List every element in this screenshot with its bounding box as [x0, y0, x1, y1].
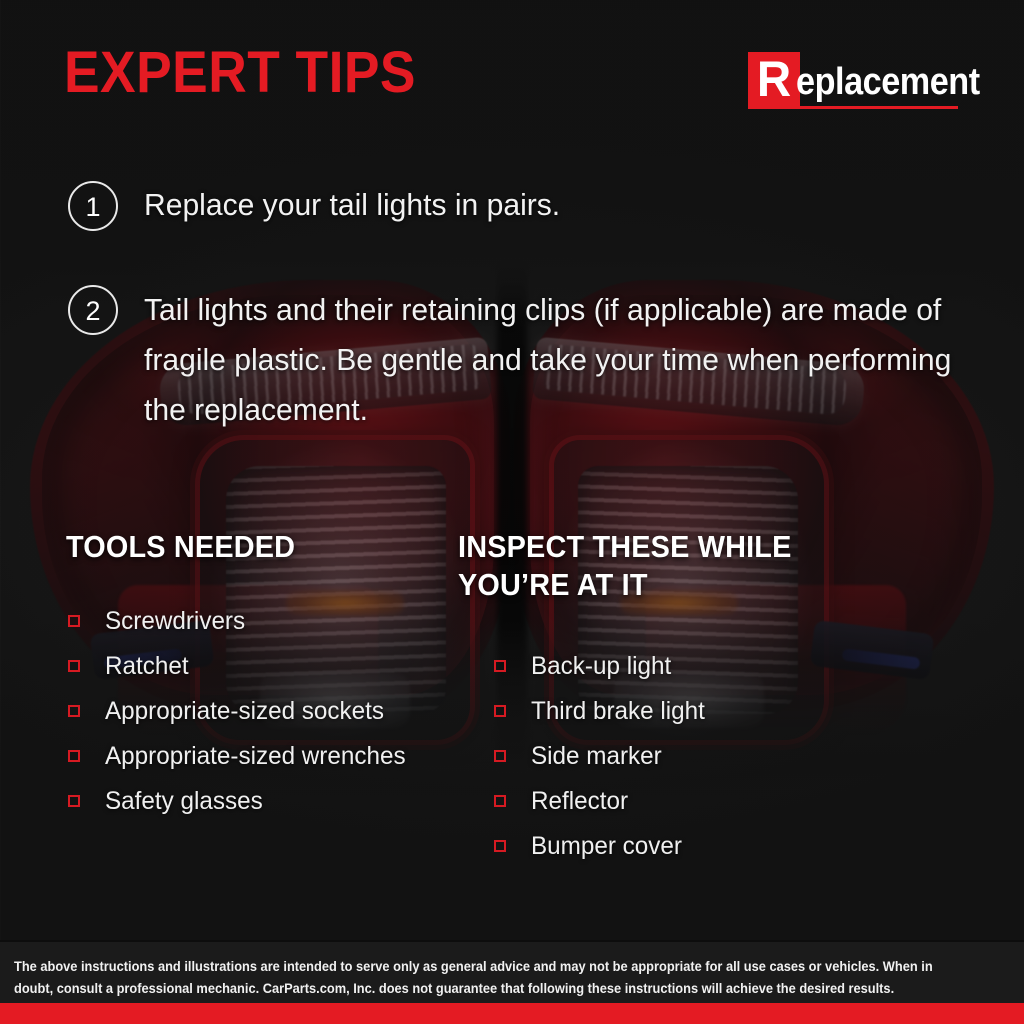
checkbox-icon[interactable]	[68, 615, 80, 627]
list-item-label: Appropriate-sized sockets	[105, 696, 384, 726]
list-item-label: Side marker	[531, 741, 662, 771]
page-title: EXPERT TIPS	[64, 44, 416, 102]
tip-item-1: 1 Replace your tail lights in pairs.	[68, 181, 573, 231]
list-item-label: Safety glasses	[105, 786, 263, 816]
footer-bar: The above instructions and illustrations…	[0, 942, 1024, 1004]
checkbox-icon[interactable]	[68, 660, 80, 672]
list-item[interactable]: Bumper cover	[494, 823, 710, 868]
logo-underline	[748, 106, 958, 109]
list-item[interactable]: Side marker	[494, 733, 710, 778]
list-item-label: Screwdrivers	[105, 606, 245, 636]
inspect-section-heading: INSPECT THESE WHILE YOU’RE AT IT	[458, 528, 830, 604]
list-item[interactable]: Ratchet	[68, 643, 415, 688]
tip-number-badge: 1	[68, 181, 118, 231]
list-item-label: Reflector	[531, 786, 628, 816]
logo-letter-r: R	[749, 52, 798, 107]
checkbox-icon[interactable]	[494, 705, 506, 717]
checkbox-icon[interactable]	[494, 840, 506, 852]
tip-text: Replace your tail lights in pairs.	[144, 181, 560, 229]
tools-checklist: Screwdrivers Ratchet Appropriate-sized s…	[68, 598, 415, 823]
list-item[interactable]: Appropriate-sized sockets	[68, 688, 415, 733]
list-item-label: Third brake light	[531, 696, 705, 726]
inspect-checklist: Back-up light Third brake light Side mar…	[494, 643, 710, 868]
list-item[interactable]: Screwdrivers	[68, 598, 415, 643]
checkbox-icon[interactable]	[68, 705, 80, 717]
tip-item-2: 2 Tail lights and their retaining clips …	[68, 285, 1024, 435]
list-item-label: Ratchet	[105, 651, 189, 681]
tip-text: Tail lights and their retaining clips (i…	[144, 285, 998, 435]
logo-wordmark: eplacement	[796, 60, 980, 104]
list-item[interactable]: Appropriate-sized wrenches	[68, 733, 415, 778]
expert-tips-infographic: EXPERT TIPS R eplacement 1 Replace your …	[0, 0, 1024, 1024]
list-item-label: Back-up light	[531, 651, 671, 681]
tools-section-heading: TOOLS NEEDED	[66, 528, 295, 566]
bottom-red-bar	[0, 1003, 1024, 1024]
list-item-label: Appropriate-sized wrenches	[105, 741, 406, 771]
replacement-logo: R eplacement	[748, 48, 960, 112]
checkbox-icon[interactable]	[494, 750, 506, 762]
list-item[interactable]: Third brake light	[494, 688, 710, 733]
disclaimer-text: The above instructions and illustrations…	[14, 956, 960, 1000]
checkbox-icon[interactable]	[68, 750, 80, 762]
list-item[interactable]: Safety glasses	[68, 778, 415, 823]
list-item[interactable]: Back-up light	[494, 643, 710, 688]
checkbox-icon[interactable]	[68, 795, 80, 807]
checkbox-icon[interactable]	[494, 660, 506, 672]
checkbox-icon[interactable]	[494, 795, 506, 807]
list-item[interactable]: Reflector	[494, 778, 710, 823]
list-item-label: Bumper cover	[531, 831, 682, 861]
tip-number-badge: 2	[68, 285, 118, 335]
